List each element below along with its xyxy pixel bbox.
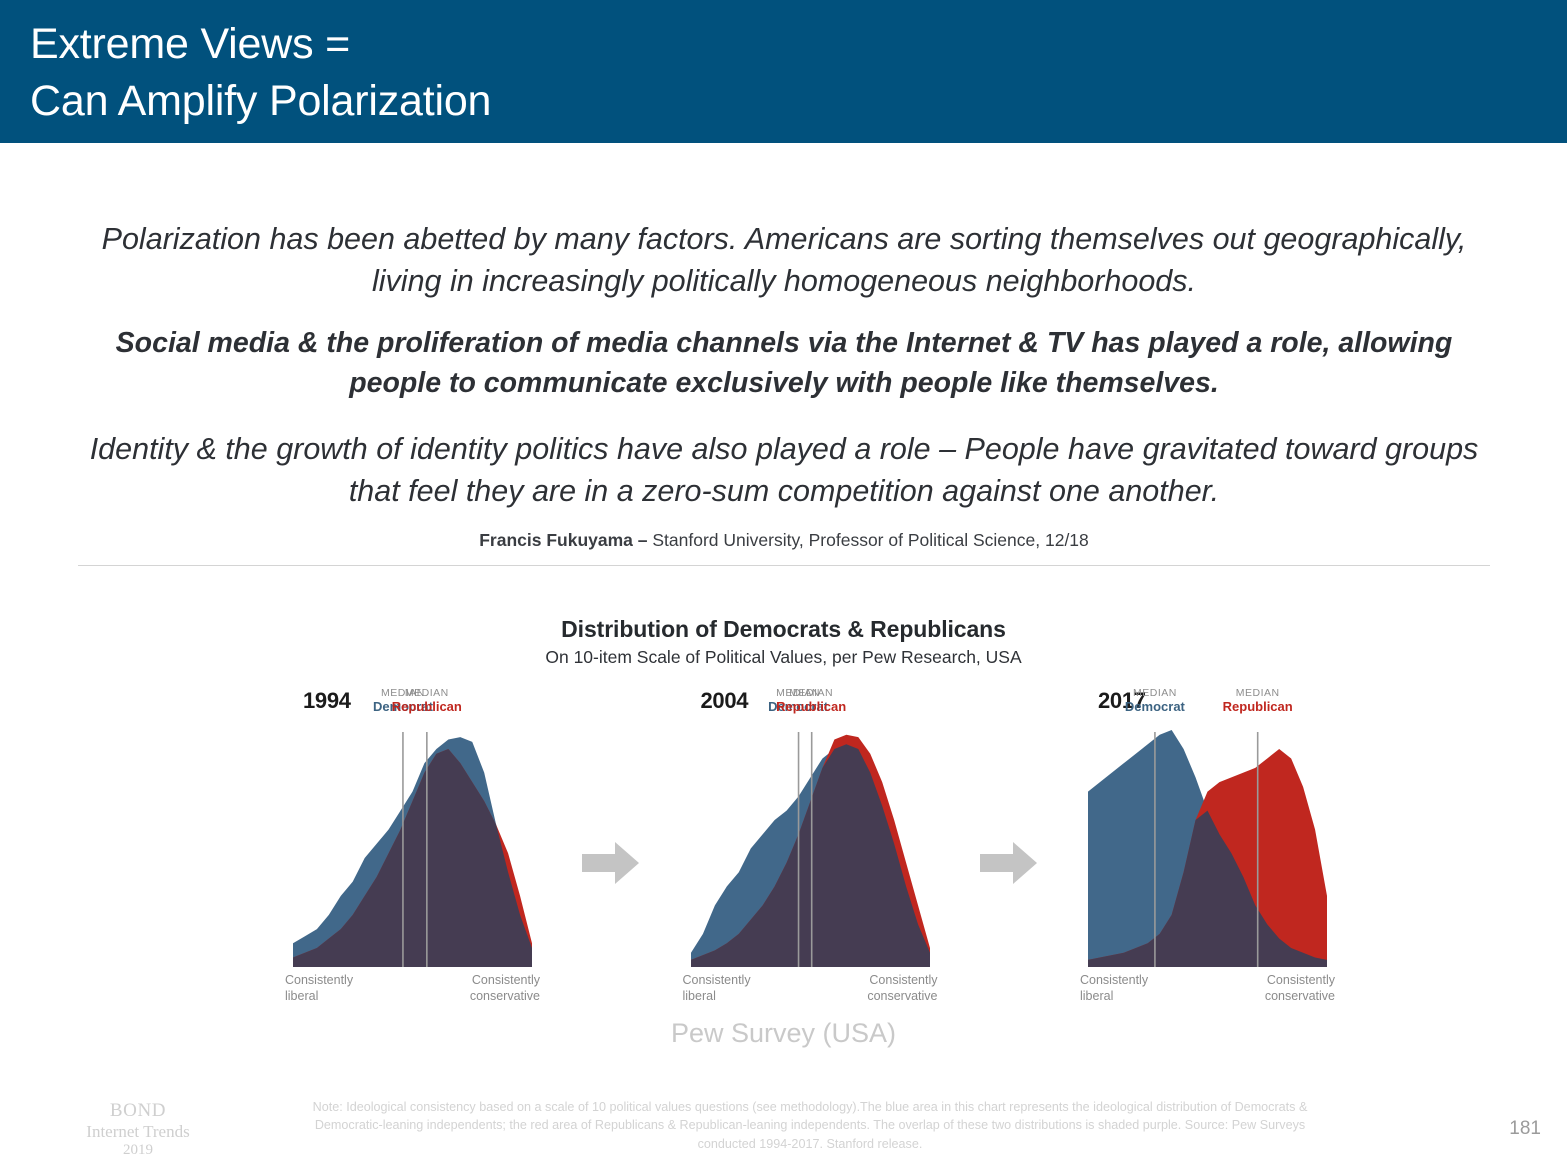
chart-panel-1994: 1994 MEDIAN Democrat [285, 688, 540, 1008]
arrow-right-icon-2 [980, 840, 1038, 886]
page-title-line-1: Extreme Views = [30, 16, 1567, 73]
section-divider [78, 565, 1490, 566]
arrow-right-glyph [980, 840, 1038, 886]
chart-title: Distribution of Democrats & Republicans [0, 616, 1567, 643]
quote-paragraph-2: Social media & the proliferation of medi… [78, 324, 1490, 404]
plot-areas [691, 735, 930, 967]
axis-label-conservative: Consistentlyconservative [1265, 973, 1335, 1004]
slide: Extreme Views = Can Amplify Polarization… [0, 0, 1567, 1175]
axis-label-liberal: Consistentlyliberal [285, 973, 353, 1004]
chart-subtitle: On 10-item Scale of Political Values, pe… [0, 647, 1567, 668]
distribution-svg [285, 724, 540, 969]
distribution-plot [1080, 724, 1335, 969]
brand-line-1: BOND [28, 1100, 248, 1122]
axis-labels: Consistentlyliberal Consistentlyconserva… [285, 973, 540, 1004]
panel-year-label: 2017 [1098, 688, 1335, 714]
slide-header: Extreme Views = Can Amplify Polarization [0, 0, 1567, 143]
plot-areas [293, 737, 532, 967]
panel-year-label: 1994 [303, 688, 540, 714]
axis-labels: Consistentlyliberal Consistentlyconserva… [1080, 973, 1335, 1004]
distribution-plot [285, 724, 540, 969]
panel-year-label: 2004 [701, 688, 938, 714]
axis-labels: Consistentlyliberal Consistentlyconserva… [683, 973, 938, 1004]
chart-panels: 1994 MEDIAN Democrat [285, 688, 1335, 1008]
quote-paragraph-2-period: . [1211, 367, 1219, 399]
distribution-plot [683, 724, 938, 969]
quote-paragraph-1: Polarization has been abetted by many fa… [78, 218, 1490, 302]
quote-paragraph-3: Identity & the growth of identity politi… [78, 428, 1490, 512]
attribution-detail: Stanford University, Professor of Politi… [652, 530, 1088, 550]
axis-label-conservative: Consistentlyconservative [867, 973, 937, 1004]
chart-source-label: Pew Survey (USA) [0, 1018, 1567, 1049]
quote-paragraph-2-text: Social media & the proliferation of medi… [116, 327, 1453, 399]
axis-label-conservative: Consistentlyconservative [470, 973, 540, 1004]
arrow-right-icon-1 [582, 840, 640, 886]
arrow-right-glyph [582, 840, 640, 886]
distribution-svg [1080, 724, 1335, 969]
brand-line-2: Internet Trends [28, 1122, 248, 1142]
distribution-svg [683, 724, 938, 969]
axis-label-liberal: Consistentlyliberal [683, 973, 751, 1004]
chart-panel-2017: 2017 MEDIAN Democrat [1080, 688, 1335, 1008]
quote-block: Polarization has been abetted by many fa… [78, 218, 1490, 551]
page-title: Extreme Views = Can Amplify Polarization [30, 16, 1567, 130]
brand-logo: BOND Internet Trends 2019 [28, 1100, 248, 1159]
page-number: 181 [1509, 1118, 1541, 1140]
attribution-name: Francis Fukuyama – [479, 530, 652, 550]
axis-label-liberal: Consistentlyliberal [1080, 973, 1148, 1004]
brand-line-3: 2019 [28, 1142, 248, 1159]
page-title-line-2: Can Amplify Polarization [30, 73, 1567, 130]
plot-areas [1088, 730, 1327, 967]
quote-attribution: Francis Fukuyama – Stanford University, … [78, 530, 1490, 551]
footnote: Note: Ideological consistency based on a… [300, 1098, 1320, 1153]
chart-panel-2004: 2004 MEDIAN Democrat [683, 688, 938, 1008]
chart-title-block: Distribution of Democrats & Republicans … [0, 616, 1567, 668]
